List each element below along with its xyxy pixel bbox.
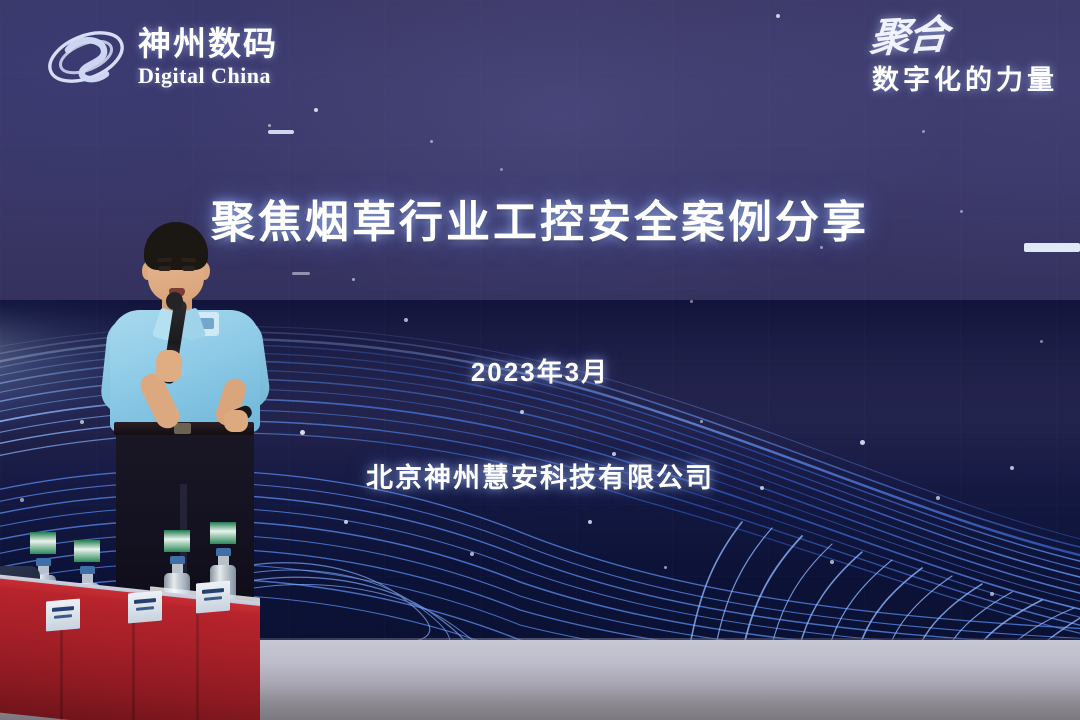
speaker-hair <box>144 222 208 270</box>
speaker-belt-buckle <box>174 423 191 434</box>
bottle-cap <box>216 548 231 556</box>
conference-stage-photo: 神州数码 Digital China 聚合 数字化的力量 聚焦烟草行业工控安全案… <box>0 0 1080 720</box>
speaker-eye-right <box>182 266 195 271</box>
bottle-cap <box>36 558 51 566</box>
name-card <box>196 581 230 614</box>
slogan-calligraphy: 聚合 <box>868 16 947 58</box>
bottle-label <box>74 540 100 562</box>
slogan-subtitle: 数字化的力量 <box>870 58 1058 97</box>
table-skirt-fold <box>196 612 199 720</box>
bottle-neck <box>82 574 93 583</box>
bottle-label <box>210 522 236 544</box>
bottle-neck <box>218 556 229 565</box>
event-slogan: 聚合 数字化的力量 <box>870 18 1058 97</box>
brand-name-cn: 神州数码 <box>138 27 278 60</box>
speaker-eye-left <box>158 266 171 271</box>
speaker-right-hand <box>224 410 248 432</box>
name-card <box>46 599 80 632</box>
bottle-neck <box>172 564 183 573</box>
bottle-label <box>30 532 56 554</box>
bottle-cap <box>80 566 95 574</box>
brand-logo: 神州数码 Digital China <box>44 20 278 94</box>
bottle-cap <box>170 556 185 564</box>
brand-name-en: Digital China <box>138 65 278 87</box>
speaker-figure <box>96 222 286 622</box>
spiral-swirl-logo-icon <box>44 20 128 94</box>
speaker-left-hand <box>156 350 182 382</box>
name-card <box>128 591 162 624</box>
bottle-label <box>164 530 190 552</box>
